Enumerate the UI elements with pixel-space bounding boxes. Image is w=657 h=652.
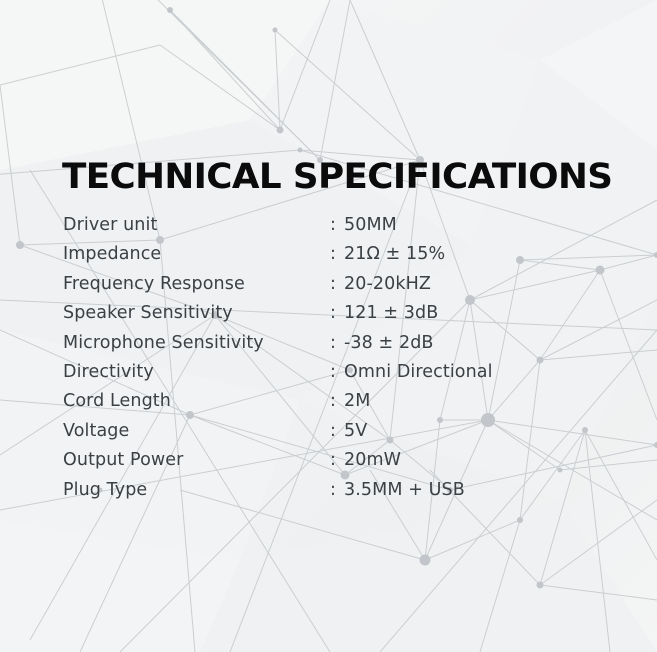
technical-specifications-card: TECHNICAL SPECIFICATIONS Driver unit:50M… <box>0 0 657 652</box>
spec-label: Speaker Sensitivity <box>63 299 330 328</box>
spec-separator: : <box>330 387 344 416</box>
spec-row-output-power: Output Power:20mW <box>63 446 623 475</box>
spec-separator: : <box>330 211 344 240</box>
spec-label: Impedance <box>63 240 330 269</box>
spec-row-cord-length: Cord Length:2M <box>63 387 623 416</box>
spec-value: 20mW <box>344 446 401 475</box>
spec-value: Omni Directional <box>344 358 493 387</box>
spec-label: Driver unit <box>63 211 330 240</box>
spec-value: 3.5MM + USB <box>344 476 465 505</box>
spec-separator: : <box>330 476 344 505</box>
spec-row-impedance: Impedance:21Ω ± 15% <box>63 240 623 269</box>
spec-row-driver-unit: Driver unit:50MM <box>63 211 623 240</box>
page-title: TECHNICAL SPECIFICATIONS <box>62 157 612 197</box>
spec-value: 121 ± 3dB <box>344 299 438 328</box>
spec-row-frequency-response: Frequency Response:20-20kHZ <box>63 270 623 299</box>
spec-value: 21Ω ± 15% <box>344 240 445 269</box>
spec-row-speaker-sensitivity: Speaker Sensitivity:121 ± 3dB <box>63 299 623 328</box>
spec-value: -38 ± 2dB <box>344 329 434 358</box>
spec-separator: : <box>330 240 344 269</box>
spec-separator: : <box>330 358 344 387</box>
spec-row-voltage: Voltage:5V <box>63 417 623 446</box>
spec-row-microphone-sensitivity: Microphone Sensitivity:-38 ± 2dB <box>63 329 623 358</box>
spec-separator: : <box>330 270 344 299</box>
spec-separator: : <box>330 446 344 475</box>
spec-label: Output Power <box>63 446 330 475</box>
spec-label: Frequency Response <box>63 270 330 299</box>
spec-value: 50MM <box>344 211 397 240</box>
spec-value: 5V <box>344 417 367 446</box>
specifications-table: Driver unit:50MM Impedance:21Ω ± 15% Fre… <box>63 211 623 505</box>
spec-separator: : <box>330 299 344 328</box>
spec-row-directivity: Directivity:Omni Directional <box>63 358 623 387</box>
spec-label: Voltage <box>63 417 330 446</box>
spec-value: 20-20kHZ <box>344 270 431 299</box>
spec-label: Microphone Sensitivity <box>63 329 330 358</box>
spec-row-plug-type: Plug Type:3.5MM + USB <box>63 476 623 505</box>
spec-separator: : <box>330 417 344 446</box>
spec-value: 2M <box>344 387 370 416</box>
spec-label: Plug Type <box>63 476 330 505</box>
spec-label: Cord Length <box>63 387 330 416</box>
spec-label: Directivity <box>63 358 330 387</box>
spec-separator: : <box>330 329 344 358</box>
